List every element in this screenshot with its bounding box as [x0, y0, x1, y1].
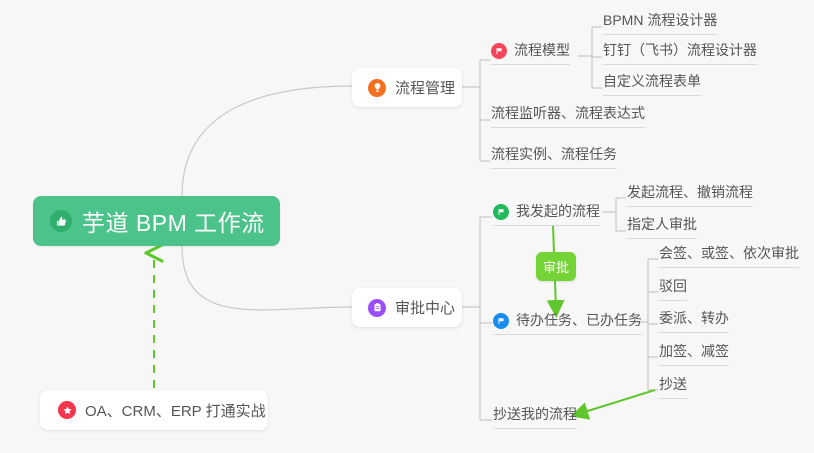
leaf-delegate-transfer[interactable]: 委派、转办 [659, 310, 729, 333]
mindmap-canvas: 芋道 BPM 工作流 流程管理 流程模型 [0, 0, 814, 453]
flag-blue-icon [493, 313, 509, 329]
leaf-label: 委派、转办 [659, 310, 729, 327]
clipboard-icon [368, 299, 386, 317]
node-label-my-started-processes: 我发起的流程 [516, 203, 600, 220]
leaf-bpmn-designer[interactable]: BPMN 流程设计器 [603, 12, 717, 35]
leaf-cc[interactable]: 抄送 [659, 376, 687, 399]
leaf-reject[interactable]: 驳回 [659, 278, 687, 301]
root-label: 芋道 BPM 工作流 [82, 204, 265, 238]
leaf-label: 加签、减签 [659, 343, 729, 360]
green-arrow-cc [578, 390, 655, 414]
approval-tag-label: 审批 [543, 257, 569, 276]
thumbs-up-icon [50, 210, 72, 232]
leaf-label: 流程实例、流程任务 [491, 146, 617, 163]
leaf-label: 驳回 [659, 278, 687, 295]
leaf-label: 发起流程、撤销流程 [627, 184, 753, 201]
node-label-process-model: 流程模型 [514, 42, 570, 59]
footer-card-label: OA、CRM、ERP 打通实战 [85, 400, 266, 421]
root-node[interactable]: 芋道 BPM 工作流 [33, 196, 280, 246]
leaf-label: 抄送 [659, 376, 687, 393]
node-label-cc-my-processes: 抄送我的流程 [493, 406, 577, 423]
branch-label-process-management: 流程管理 [395, 77, 455, 98]
leaf-label: BPMN 流程设计器 [603, 12, 717, 29]
leaf-custom-process-form[interactable]: 自定义流程表单 [603, 73, 701, 96]
leaf-countersign[interactable]: 会签、或签、依次审批 [659, 245, 799, 268]
leaf-assignee-approval[interactable]: 指定人审批 [627, 216, 697, 239]
leaf-label: 会签、或签、依次审批 [659, 245, 799, 262]
flag-green-icon [493, 204, 509, 220]
leaf-label: 流程监听器、流程表达式 [491, 105, 645, 122]
approval-tag[interactable]: 审批 [536, 252, 576, 281]
leaf-label: 自定义流程表单 [603, 73, 701, 90]
branch-label-approval-center: 审批中心 [395, 297, 455, 318]
node-todo-done-tasks[interactable]: 待办任务、已办任务 [493, 312, 642, 335]
leaf-label: 指定人审批 [627, 216, 697, 233]
node-process-model[interactable]: 流程模型 [491, 42, 570, 65]
leaf-dingtalk-feishu-designer[interactable]: 钉钉（飞书）流程设计器 [603, 42, 757, 65]
leaf-process-listener-expression[interactable]: 流程监听器、流程表达式 [491, 105, 645, 128]
leaf-label: 钉钉（飞书）流程设计器 [603, 42, 757, 59]
node-label-todo-done-tasks: 待办任务、已办任务 [516, 312, 642, 329]
leaf-process-instance-task[interactable]: 流程实例、流程任务 [491, 146, 617, 169]
leaf-start-cancel-process[interactable]: 发起流程、撤销流程 [627, 184, 753, 207]
node-my-started-processes[interactable]: 我发起的流程 [493, 203, 600, 226]
branch-node-process-management[interactable]: 流程管理 [352, 68, 462, 107]
leaf-add-remove-sign[interactable]: 加签、减签 [659, 343, 729, 366]
branch-node-approval-center[interactable]: 审批中心 [352, 288, 462, 327]
footer-card-integration[interactable]: OA、CRM、ERP 打通实战 [40, 390, 268, 430]
lightbulb-icon [368, 79, 386, 97]
star-icon [58, 401, 76, 419]
flag-red-icon [491, 43, 507, 59]
node-cc-my-processes[interactable]: 抄送我的流程 [493, 406, 577, 429]
